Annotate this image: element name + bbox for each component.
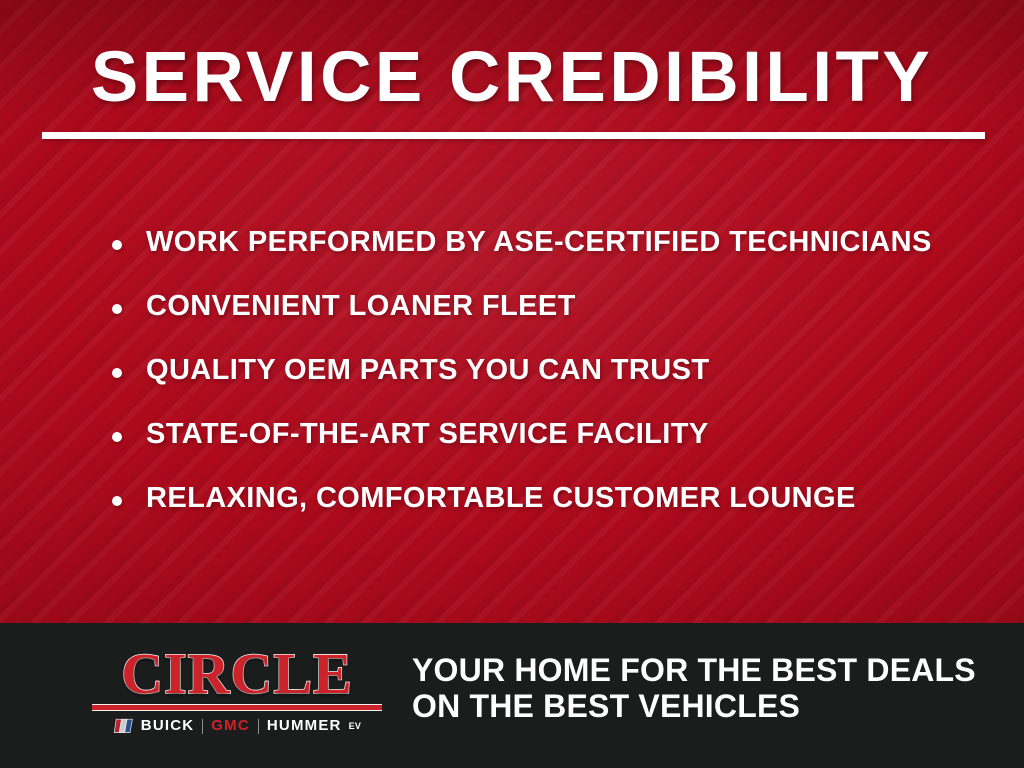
brand-strip: BUICK GMC HUMMER EV [92,716,382,736]
service-credibility-slide: SERVICE CREDIBILITY WORK PERFORMED BY AS… [0,0,1024,768]
logo-wordmark: CIRCLE [92,648,382,700]
brand-label-gmc: GMC [211,718,250,734]
list-item-label: STATE-OF-THE-ART SERVICE FACILITY [146,414,992,454]
title-underline-rule [42,132,985,139]
buick-tri-shield-icon [113,718,135,734]
list-item: STATE-OF-THE-ART SERVICE FACILITY [112,414,992,478]
bullet-dot-icon [112,368,122,378]
list-item: WORK PERFORMED BY ASE-CERTIFIED TECHNICI… [112,222,992,286]
bullet-dot-icon [112,496,122,506]
brand-label-hummer: HUMMER [267,718,342,734]
bullet-dot-icon [112,240,122,250]
brand-separator [258,719,259,734]
list-item-label: WORK PERFORMED BY ASE-CERTIFIED TECHNICI… [146,222,992,262]
feature-bullet-list: WORK PERFORMED BY ASE-CERTIFIED TECHNICI… [112,222,992,542]
list-item-label: RELAXING, COMFORTABLE CUSTOMER LOUNGE [146,478,992,518]
brand-label-hummer-suffix: EV [349,721,362,731]
list-item-label: QUALITY OEM PARTS YOU CAN TRUST [146,350,992,390]
brand-separator [202,719,203,734]
bullet-dot-icon [112,304,122,314]
list-item-label: CONVENIENT LOANER FLEET [146,286,992,326]
list-item: RELAXING, COMFORTABLE CUSTOMER LOUNGE [112,478,992,542]
tagline-line-2: ON THE BEST VEHICLES [412,688,1012,724]
list-item: CONVENIENT LOANER FLEET [112,286,992,350]
brand-label-buick: BUICK [141,718,195,734]
list-item: QUALITY OEM PARTS YOU CAN TRUST [112,350,992,414]
footer-tagline: YOUR HOME FOR THE BEST DEALS ON THE BEST… [412,652,1012,724]
bullet-dot-icon [112,432,122,442]
dealership-logo: CIRCLE BUICK GMC HUMMER EV [92,648,382,736]
tagline-line-1: YOUR HOME FOR THE BEST DEALS [412,652,1012,688]
page-title: SERVICE CREDIBILITY [0,40,1024,116]
